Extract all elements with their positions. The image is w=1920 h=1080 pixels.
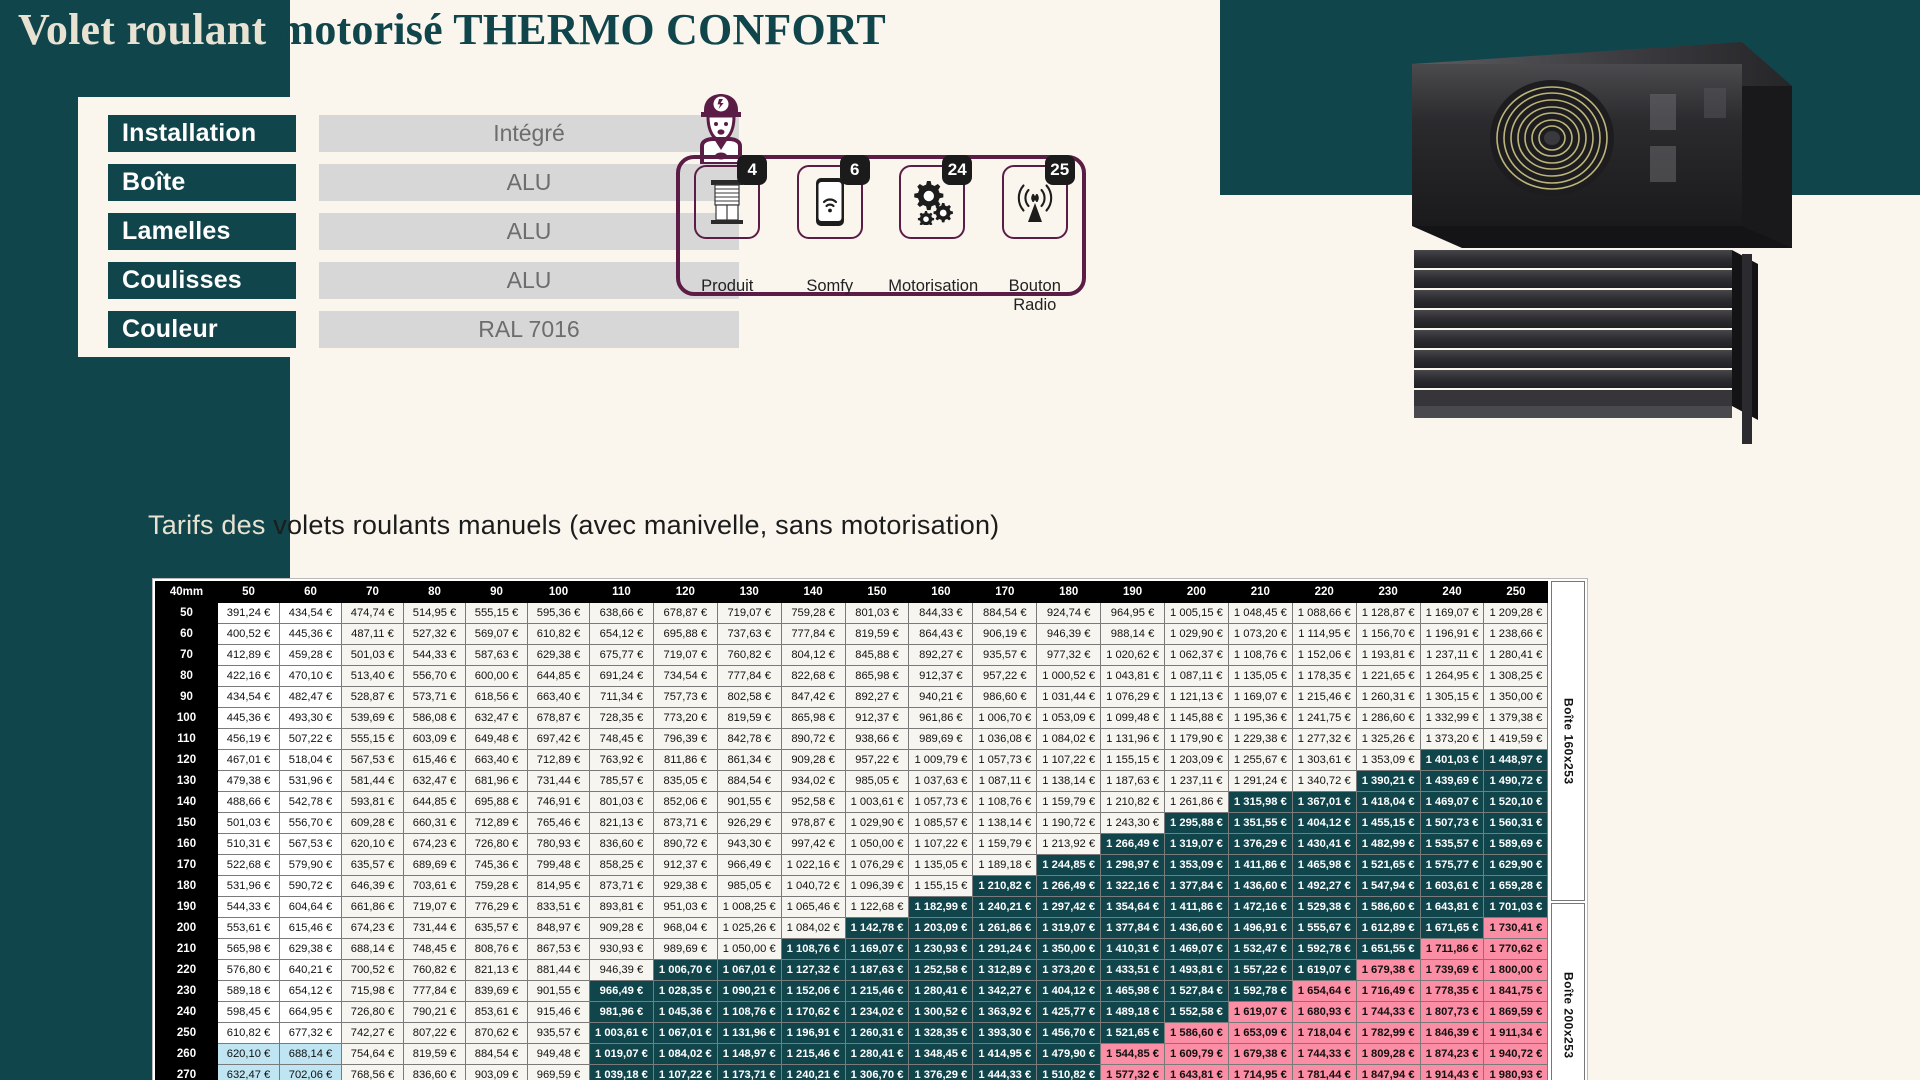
price-cell-180x70: 646,39 € [342, 876, 404, 897]
price-row-170: 170522,68 €579,90 €635,57 €689,69 €745,3… [156, 855, 1548, 876]
caption-somfy: Somfy [786, 277, 874, 315]
price-cell-120x180: 1 107,22 € [1037, 750, 1101, 771]
price-cell-180x100: 814,95 € [528, 876, 590, 897]
price-cell-260x210: 1 679,38 € [1228, 1044, 1292, 1065]
row-header-150: 150 [156, 813, 218, 834]
price-cell-200x240: 1 671,65 € [1420, 918, 1484, 939]
price-cell-60x170: 906,19 € [973, 624, 1037, 645]
price-cell-170x130: 966,49 € [717, 855, 781, 876]
price-cell-130x110: 785,57 € [590, 771, 654, 792]
price-cell-200x130: 1 025,26 € [717, 918, 781, 939]
price-cell-240x180: 1 425,77 € [1037, 1002, 1101, 1023]
price-cell-250x170: 1 393,30 € [973, 1023, 1037, 1044]
price-table-body: 50391,24 €434,54 €474,74 €514,95 €555,15… [156, 603, 1548, 1080]
price-cell-240x220: 1 680,93 € [1292, 1002, 1356, 1023]
price-cell-70x130: 760,82 € [717, 645, 781, 666]
price-cell-60x90: 569,07 € [466, 624, 528, 645]
price-cell-170x250: 1 629,90 € [1484, 855, 1548, 876]
price-cell-80x220: 1 178,35 € [1292, 666, 1356, 687]
col-header-190: 190 [1101, 582, 1165, 603]
price-cell-190x160: 1 182,99 € [909, 897, 973, 918]
price-cell-90x80: 573,71 € [404, 687, 466, 708]
row-header-140: 140 [156, 792, 218, 813]
col-header-110: 110 [590, 582, 654, 603]
price-cell-250x140: 1 196,91 € [781, 1023, 845, 1044]
price-cell-110x170: 1 036,08 € [973, 729, 1037, 750]
badge-somfy: 6 [840, 155, 870, 185]
price-cell-130x180: 1 138,14 € [1037, 771, 1101, 792]
price-cell-150x90: 712,89 € [466, 813, 528, 834]
price-cell-240x200: 1 552,58 € [1165, 1002, 1229, 1023]
price-cell-60x60: 445,36 € [280, 624, 342, 645]
price-cell-70x140: 804,12 € [781, 645, 845, 666]
price-cell-270x160: 1 376,29 € [909, 1065, 973, 1080]
price-cell-240x250: 1 869,59 € [1484, 1002, 1548, 1023]
price-cell-230x120: 1 028,35 € [653, 981, 717, 1002]
price-cell-110x200: 1 179,90 € [1165, 729, 1229, 750]
price-row-200: 200553,61 €615,46 €674,23 €731,44 €635,5… [156, 918, 1548, 939]
price-cell-160x200: 1 319,07 € [1165, 834, 1229, 855]
price-cell-190x100: 833,51 € [528, 897, 590, 918]
price-cell-140x130: 901,55 € [717, 792, 781, 813]
price-cell-170x160: 1 135,05 € [909, 855, 973, 876]
price-cell-80x160: 912,37 € [909, 666, 973, 687]
price-cell-100x90: 632,47 € [466, 708, 528, 729]
price-cell-130x150: 985,05 € [845, 771, 909, 792]
price-cell-220x100: 881,44 € [528, 960, 590, 981]
price-cell-200x150: 1 142,78 € [845, 918, 909, 939]
price-cell-100x120: 773,20 € [653, 708, 717, 729]
radio-antenna-icon [1009, 179, 1061, 225]
price-cell-110x230: 1 325,26 € [1356, 729, 1420, 750]
price-cell-80x170: 957,22 € [973, 666, 1037, 687]
price-cell-110x210: 1 229,38 € [1228, 729, 1292, 750]
price-cell-100x130: 819,59 € [717, 708, 781, 729]
price-cell-240x170: 1 363,92 € [973, 1002, 1037, 1023]
price-cell-210x60: 629,38 € [280, 939, 342, 960]
price-cell-270x120: 1 107,22 € [653, 1065, 717, 1080]
row-header-50: 50 [156, 603, 218, 624]
boite-label-160x253: Boîte 160x253 [1551, 581, 1585, 901]
price-cell-100x190: 1 099,48 € [1101, 708, 1165, 729]
price-cell-100x160: 961,86 € [909, 708, 973, 729]
price-cell-70x250: 1 280,41 € [1484, 645, 1548, 666]
col-header-170: 170 [973, 582, 1037, 603]
price-cell-220x170: 1 312,89 € [973, 960, 1037, 981]
price-cell-60x250: 1 238,66 € [1484, 624, 1548, 645]
price-cell-140x90: 695,88 € [466, 792, 528, 813]
price-cell-250x250: 1 911,34 € [1484, 1023, 1548, 1044]
price-cell-110x240: 1 373,20 € [1420, 729, 1484, 750]
price-cell-140x150: 1 003,61 € [845, 792, 909, 813]
price-cell-110x100: 697,42 € [528, 729, 590, 750]
price-cell-190x180: 1 297,42 € [1037, 897, 1101, 918]
price-cell-160x240: 1 535,57 € [1420, 834, 1484, 855]
price-cell-270x200: 1 643,81 € [1165, 1065, 1229, 1080]
price-cell-80x180: 1 000,52 € [1037, 666, 1101, 687]
price-cell-270x150: 1 306,70 € [845, 1065, 909, 1080]
price-cell-110x130: 842,78 € [717, 729, 781, 750]
col-header-220: 220 [1292, 582, 1356, 603]
price-cell-240x110: 981,96 € [590, 1002, 654, 1023]
price-cell-230x160: 1 280,41 € [909, 981, 973, 1002]
price-cell-180x80: 703,61 € [404, 876, 466, 897]
price-cell-170x120: 912,37 € [653, 855, 717, 876]
price-cell-200x250: 1 730,41 € [1484, 918, 1548, 939]
price-cell-90x190: 1 076,29 € [1101, 687, 1165, 708]
price-cell-180x160: 1 155,15 € [909, 876, 973, 897]
price-cell-210x100: 867,53 € [528, 939, 590, 960]
price-cell-180x140: 1 040,72 € [781, 876, 845, 897]
price-cell-180x230: 1 547,94 € [1356, 876, 1420, 897]
price-row-190: 190544,33 €604,64 €661,86 €719,07 €776,2… [156, 897, 1548, 918]
price-cell-270x240: 1 914,43 € [1420, 1065, 1484, 1080]
price-cell-270x60: 702,06 € [280, 1065, 342, 1080]
price-cell-250x190: 1 521,65 € [1101, 1023, 1165, 1044]
badge-motorisation: 24 [942, 155, 972, 185]
price-cell-170x80: 689,69 € [404, 855, 466, 876]
price-cell-260x150: 1 280,41 € [845, 1044, 909, 1065]
price-cell-270x80: 836,60 € [404, 1065, 466, 1080]
price-cell-100x250: 1 379,38 € [1484, 708, 1548, 729]
price-cell-100x200: 1 145,88 € [1165, 708, 1229, 729]
price-cell-160x100: 780,93 € [528, 834, 590, 855]
boite-label-200x253: Boîte 200x253 [1551, 903, 1585, 1080]
price-cell-120x80: 615,46 € [404, 750, 466, 771]
price-cell-210x70: 688,14 € [342, 939, 404, 960]
price-cell-70x50: 412,89 € [218, 645, 280, 666]
price-cell-120x50: 467,01 € [218, 750, 280, 771]
price-cell-90x150: 892,27 € [845, 687, 909, 708]
price-cell-140x120: 852,06 € [653, 792, 717, 813]
tarif-heading: Tarifs des volets roulants manuels (avec… [148, 510, 999, 541]
features-icon-panel: 4 6 [660, 92, 1090, 317]
price-cell-140x140: 952,58 € [781, 792, 845, 813]
price-cell-80x90: 600,00 € [466, 666, 528, 687]
price-cell-240x70: 726,80 € [342, 1002, 404, 1023]
price-cell-170x170: 1 189,18 € [973, 855, 1037, 876]
price-cell-200x170: 1 261,86 € [973, 918, 1037, 939]
page-title-part-light: Volet roulant [18, 5, 266, 54]
feature-bouton-radio[interactable]: 25 [991, 165, 1079, 239]
price-cell-250x100: 935,57 € [528, 1023, 590, 1044]
price-cell-110x80: 603,09 € [404, 729, 466, 750]
price-cell-240x90: 853,61 € [466, 1002, 528, 1023]
price-cell-170x90: 745,36 € [466, 855, 528, 876]
col-header-240: 240 [1420, 582, 1484, 603]
price-cell-120x60: 518,04 € [280, 750, 342, 771]
price-cell-90x200: 1 121,13 € [1165, 687, 1229, 708]
spec-label-coulisses: Coulisses [108, 262, 296, 299]
price-cell-150x190: 1 243,30 € [1101, 813, 1165, 834]
price-cell-260x170: 1 414,95 € [973, 1044, 1037, 1065]
price-cell-160x190: 1 266,49 € [1101, 834, 1165, 855]
price-cell-90x130: 802,58 € [717, 687, 781, 708]
price-cell-90x110: 711,34 € [590, 687, 654, 708]
price-cell-90x230: 1 260,31 € [1356, 687, 1420, 708]
row-header-200: 200 [156, 918, 218, 939]
price-cell-240x140: 1 170,62 € [781, 1002, 845, 1023]
price-cell-120x190: 1 155,15 € [1101, 750, 1165, 771]
price-cell-260x240: 1 874,23 € [1420, 1044, 1484, 1065]
price-cell-100x110: 728,35 € [590, 708, 654, 729]
price-cell-260x250: 1 940,72 € [1484, 1044, 1548, 1065]
price-cell-180x250: 1 659,28 € [1484, 876, 1548, 897]
price-cell-210x240: 1 711,86 € [1420, 939, 1484, 960]
price-cell-150x120: 873,71 € [653, 813, 717, 834]
price-cell-270x220: 1 781,44 € [1292, 1065, 1356, 1080]
price-cell-220x110: 946,39 € [590, 960, 654, 981]
price-cell-100x210: 1 195,36 € [1228, 708, 1292, 729]
price-cell-130x120: 835,05 € [653, 771, 717, 792]
price-cell-110x140: 890,72 € [781, 729, 845, 750]
price-cell-220x250: 1 800,00 € [1484, 960, 1548, 981]
price-cell-80x240: 1 264,95 € [1420, 666, 1484, 687]
price-cell-240x120: 1 045,36 € [653, 1002, 717, 1023]
price-cell-110x180: 1 084,02 € [1037, 729, 1101, 750]
price-cell-160x250: 1 589,69 € [1484, 834, 1548, 855]
feature-produit[interactable]: 4 [683, 165, 771, 239]
spec-label-lamelles: Lamelles [108, 213, 296, 250]
price-cell-250x180: 1 456,70 € [1037, 1023, 1101, 1044]
col-header-80: 80 [404, 582, 466, 603]
price-cell-270x250: 1 980,93 € [1484, 1065, 1548, 1080]
price-cell-250x240: 1 846,39 € [1420, 1023, 1484, 1044]
price-cell-70x180: 977,32 € [1037, 645, 1101, 666]
price-cell-220x160: 1 252,58 € [909, 960, 973, 981]
price-cell-100x140: 865,98 € [781, 708, 845, 729]
price-cell-190x50: 544,33 € [218, 897, 280, 918]
price-cell-170x100: 799,48 € [528, 855, 590, 876]
price-cell-240x230: 1 744,33 € [1356, 1002, 1420, 1023]
price-cell-160x140: 997,42 € [781, 834, 845, 855]
price-cell-170x70: 635,57 € [342, 855, 404, 876]
price-cell-190x60: 604,64 € [280, 897, 342, 918]
price-cell-200x200: 1 436,60 € [1165, 918, 1229, 939]
price-cell-160x120: 890,72 € [653, 834, 717, 855]
price-cell-270x180: 1 510,82 € [1037, 1065, 1101, 1080]
price-cell-250x150: 1 260,31 € [845, 1023, 909, 1044]
price-cell-180x120: 929,38 € [653, 876, 717, 897]
price-cell-80x130: 777,84 € [717, 666, 781, 687]
price-cell-200x190: 1 377,84 € [1101, 918, 1165, 939]
price-cell-180x150: 1 096,39 € [845, 876, 909, 897]
price-cell-130x200: 1 237,11 € [1165, 771, 1229, 792]
price-cell-210x220: 1 592,78 € [1292, 939, 1356, 960]
price-cell-70x90: 587,63 € [466, 645, 528, 666]
col-header-130: 130 [717, 582, 781, 603]
col-header-120: 120 [653, 582, 717, 603]
price-cell-200x180: 1 319,07 € [1037, 918, 1101, 939]
row-header-160: 160 [156, 834, 218, 855]
price-cell-250x160: 1 328,35 € [909, 1023, 973, 1044]
price-cell-220x70: 700,52 € [342, 960, 404, 981]
price-cell-180x190: 1 322,16 € [1101, 876, 1165, 897]
price-cell-180x60: 590,72 € [280, 876, 342, 897]
price-cell-50x60: 434,54 € [280, 603, 342, 624]
price-cell-110x250: 1 419,59 € [1484, 729, 1548, 750]
rolling-shutter-icon [707, 178, 747, 226]
price-cell-70x60: 459,28 € [280, 645, 342, 666]
price-cell-70x70: 501,03 € [342, 645, 404, 666]
price-cell-110x70: 555,15 € [342, 729, 404, 750]
row-header-170: 170 [156, 855, 218, 876]
price-cell-150x170: 1 138,14 € [973, 813, 1037, 834]
price-cell-50x120: 678,87 € [653, 603, 717, 624]
price-cell-160x150: 1 050,00 € [845, 834, 909, 855]
price-cell-60x100: 610,82 € [528, 624, 590, 645]
price-cell-220x180: 1 373,20 € [1037, 960, 1101, 981]
price-cell-210x210: 1 532,47 € [1228, 939, 1292, 960]
price-cell-190x250: 1 701,03 € [1484, 897, 1548, 918]
price-cell-120x140: 909,28 € [781, 750, 845, 771]
price-cell-60x200: 1 029,90 € [1165, 624, 1229, 645]
price-cell-130x70: 581,44 € [342, 771, 404, 792]
price-cell-70x120: 719,07 € [653, 645, 717, 666]
price-cell-250x70: 742,27 € [342, 1023, 404, 1044]
price-cell-130x90: 681,96 € [466, 771, 528, 792]
price-cell-170x110: 858,25 € [590, 855, 654, 876]
price-cell-150x80: 660,31 € [404, 813, 466, 834]
feature-motorisation[interactable]: 24 [888, 165, 976, 239]
price-cell-130x100: 731,44 € [528, 771, 590, 792]
price-cell-230x80: 777,84 € [404, 981, 466, 1002]
price-cell-70x190: 1 020,62 € [1101, 645, 1165, 666]
price-cell-70x210: 1 108,76 € [1228, 645, 1292, 666]
price-cell-120x70: 567,53 € [342, 750, 404, 771]
price-cell-260x140: 1 215,46 € [781, 1044, 845, 1065]
price-cell-50x130: 719,07 € [717, 603, 781, 624]
price-cell-70x170: 935,57 € [973, 645, 1037, 666]
price-cell-60x80: 527,32 € [404, 624, 466, 645]
price-cell-50x200: 1 005,15 € [1165, 603, 1229, 624]
price-cell-170x190: 1 298,97 € [1101, 855, 1165, 876]
price-cell-200x100: 848,97 € [528, 918, 590, 939]
price-row-50: 50391,24 €434,54 €474,74 €514,95 €555,15… [156, 603, 1548, 624]
price-cell-170x50: 522,68 € [218, 855, 280, 876]
smartphone-wifi-icon [813, 176, 847, 228]
price-cell-80x100: 644,85 € [528, 666, 590, 687]
price-cell-170x230: 1 521,65 € [1356, 855, 1420, 876]
price-cell-60x50: 400,52 € [218, 624, 280, 645]
price-cell-230x70: 715,98 € [342, 981, 404, 1002]
price-cell-240x240: 1 807,73 € [1420, 1002, 1484, 1023]
spec-label-couleur: Couleur [108, 311, 296, 348]
price-cell-170x140: 1 022,16 € [781, 855, 845, 876]
price-cell-250x200: 1 586,60 € [1165, 1023, 1229, 1044]
price-cell-220x90: 821,13 € [466, 960, 528, 981]
row-header-100: 100 [156, 708, 218, 729]
price-cell-90x60: 482,47 € [280, 687, 342, 708]
price-row-60: 60400,52 €445,36 €487,11 €527,32 €569,07… [156, 624, 1548, 645]
price-cell-140x70: 593,81 € [342, 792, 404, 813]
price-cell-130x130: 884,54 € [717, 771, 781, 792]
price-row-180: 180531,96 €590,72 €646,39 €703,61 €759,2… [156, 876, 1548, 897]
price-cell-230x190: 1 465,98 € [1101, 981, 1165, 1002]
price-cell-170x60: 579,90 € [280, 855, 342, 876]
price-cell-60x150: 819,59 € [845, 624, 909, 645]
price-cell-50x190: 964,95 € [1101, 603, 1165, 624]
price-cell-250x230: 1 782,99 € [1356, 1023, 1420, 1044]
price-cell-200x80: 731,44 € [404, 918, 466, 939]
price-cell-90x210: 1 169,07 € [1228, 687, 1292, 708]
price-cell-150x70: 609,28 € [342, 813, 404, 834]
price-cell-130x240: 1 439,69 € [1420, 771, 1484, 792]
price-cell-160x70: 620,10 € [342, 834, 404, 855]
price-cell-270x130: 1 173,71 € [717, 1065, 781, 1080]
price-cell-200x230: 1 612,89 € [1356, 918, 1420, 939]
price-cell-260x80: 819,59 € [404, 1044, 466, 1065]
price-cell-170x220: 1 465,98 € [1292, 855, 1356, 876]
price-cell-190x70: 661,86 € [342, 897, 404, 918]
price-cell-260x160: 1 348,45 € [909, 1044, 973, 1065]
price-cell-60x190: 988,14 € [1101, 624, 1165, 645]
price-cell-120x250: 1 448,97 € [1484, 750, 1548, 771]
price-cell-250x220: 1 718,04 € [1292, 1023, 1356, 1044]
price-cell-220x80: 760,82 € [404, 960, 466, 981]
price-cell-190x120: 951,03 € [653, 897, 717, 918]
price-cell-70x110: 675,77 € [590, 645, 654, 666]
row-header-130: 130 [156, 771, 218, 792]
col-header-140: 140 [781, 582, 845, 603]
price-cell-100x80: 586,08 € [404, 708, 466, 729]
price-cell-260x130: 1 148,97 € [717, 1044, 781, 1065]
price-cell-140x240: 1 469,07 € [1420, 792, 1484, 813]
price-cell-60x230: 1 156,70 € [1356, 624, 1420, 645]
price-cell-200x70: 674,23 € [342, 918, 404, 939]
caption-motorisation: Motorisation [888, 277, 976, 315]
price-cell-120x150: 957,22 € [845, 750, 909, 771]
price-cell-240x60: 664,95 € [280, 1002, 342, 1023]
price-cell-80x200: 1 087,11 € [1165, 666, 1229, 687]
price-cell-210x150: 1 169,07 € [845, 939, 909, 960]
price-cell-250x120: 1 067,01 € [653, 1023, 717, 1044]
price-cell-240x50: 598,45 € [218, 1002, 280, 1023]
price-cell-180x50: 531,96 € [218, 876, 280, 897]
price-cell-210x120: 989,69 € [653, 939, 717, 960]
price-cell-70x230: 1 193,81 € [1356, 645, 1420, 666]
price-cell-190x200: 1 411,86 € [1165, 897, 1229, 918]
price-cell-50x230: 1 128,87 € [1356, 603, 1420, 624]
price-cell-110x90: 649,48 € [466, 729, 528, 750]
price-cell-90x160: 940,21 € [909, 687, 973, 708]
price-cell-240x160: 1 300,52 € [909, 1002, 973, 1023]
price-cell-120x220: 1 303,61 € [1292, 750, 1356, 771]
price-cell-150x210: 1 351,55 € [1228, 813, 1292, 834]
page-title-part-dark: motorisé THERMO CONFORT [266, 5, 886, 54]
price-cell-110x150: 938,66 € [845, 729, 909, 750]
price-cell-50x240: 1 169,07 € [1420, 603, 1484, 624]
price-cell-100x180: 1 053,09 € [1037, 708, 1101, 729]
feature-somfy[interactable]: 6 [786, 165, 874, 239]
spec-label-boite: Boîte [108, 164, 296, 201]
price-row-90: 90434,54 €482,47 €528,87 €573,71 €618,56… [156, 687, 1548, 708]
gears-icon [909, 179, 955, 225]
row-header-80: 80 [156, 666, 218, 687]
price-cell-140x200: 1 261,86 € [1165, 792, 1229, 813]
price-cell-110x190: 1 131,96 € [1101, 729, 1165, 750]
col-header-180: 180 [1037, 582, 1101, 603]
price-row-130: 130479,38 €531,96 €581,44 €632,47 €681,9… [156, 771, 1548, 792]
price-cell-50x80: 514,95 € [404, 603, 466, 624]
price-cell-250x90: 870,62 € [466, 1023, 528, 1044]
price-cell-250x210: 1 653,09 € [1228, 1023, 1292, 1044]
price-cell-260x190: 1 544,85 € [1101, 1044, 1165, 1065]
price-cell-50x70: 474,74 € [342, 603, 404, 624]
price-cell-90x250: 1 350,00 € [1484, 687, 1548, 708]
price-cell-260x180: 1 479,90 € [1037, 1044, 1101, 1065]
row-header-210: 210 [156, 939, 218, 960]
